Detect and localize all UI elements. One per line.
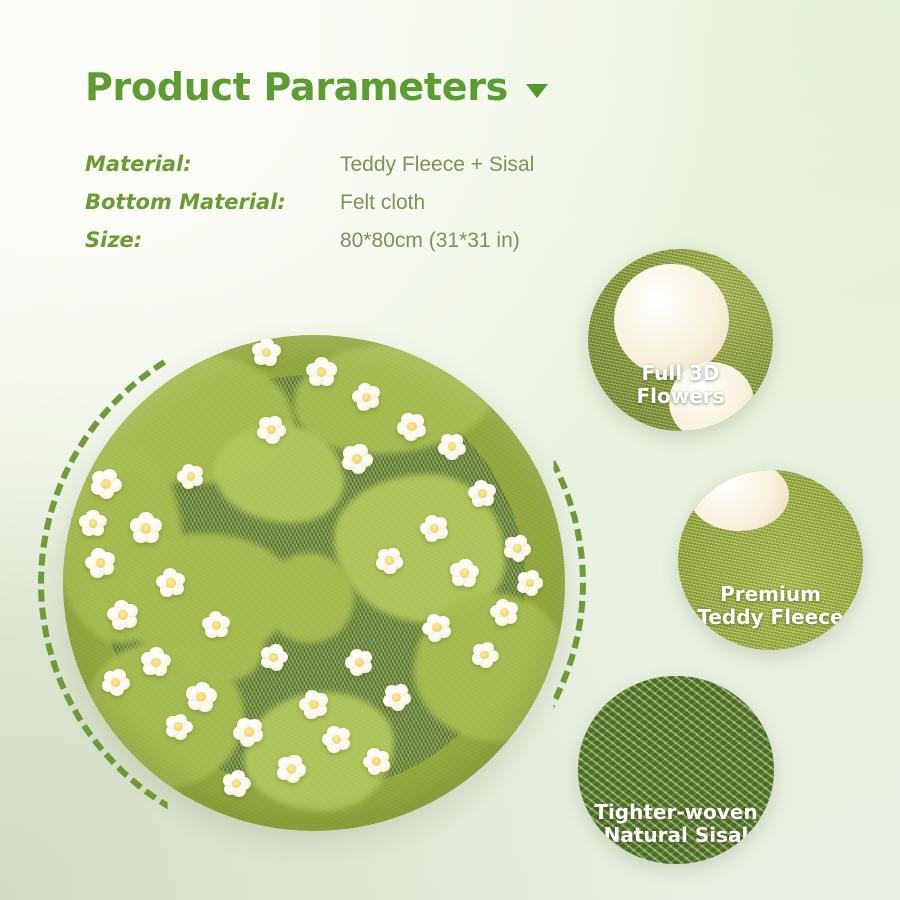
rug-flower-icon [233,716,265,748]
spec-row: Material: Teddy Fleece + Sisal [85,152,534,190]
rug-flower-icon [396,411,427,442]
spec-label-size: Size: [85,228,340,252]
rug-flower-icon [140,646,172,678]
rug-flower-icon [375,546,404,575]
rug-flower-icon [259,643,288,672]
callout-sisal-line1: Tighter-woven [578,801,774,823]
rug-flower-icon [340,443,373,476]
rug-flower-icon [438,432,467,461]
rug-flower-icon [177,462,205,490]
rug-flower-icon [221,769,251,799]
rug-edge-shading [63,335,565,831]
rug-flower-icon [467,479,497,509]
callout-teddy-fleece[interactable]: Premium Teddy Fleece [678,470,863,650]
rug-flower-icon [276,754,307,785]
rug-flower-icon [470,640,499,669]
rug-flower-icon [129,511,163,545]
product-parameters-header[interactable]: Product Parameters [85,68,548,106]
spec-row: Size: 80*80cm (31*31 in) [85,228,534,266]
callout-teddy-fleece-line1: Premium [678,583,863,605]
rug-body [63,335,565,831]
callout-teddy-fleece-caption: Premium Teddy Fleece [678,583,863,628]
spec-value-material: Teddy Fleece + Sisal [340,153,534,177]
rug-flower-icon [352,382,382,412]
flower-photo-large [614,264,729,377]
rug-flower-icon [299,689,330,720]
callout-sisal-line2: Natural Sisal [578,824,774,846]
spec-label-bottom-material: Bottom Material: [85,190,340,214]
spec-label-material: Material: [85,152,340,176]
chevron-down-icon[interactable] [526,84,548,98]
spec-value-size: 80*80cm (31*31 in) [340,229,520,253]
spec-row: Bottom Material: Felt cloth [85,190,534,228]
rug-flower-icon [185,681,218,714]
rug-flower-icon [322,724,352,754]
rug-flower-icon [305,356,338,389]
rug-flower-icon [251,337,282,368]
callout-flowers-caption: Full 3D Flowers [588,362,773,407]
rug-flower-icon [362,747,391,776]
callout-teddy-fleece-line2: Teddy Fleece [678,606,863,628]
callout-flowers-line1: Full 3D [588,362,773,384]
rug-flower-icon [419,513,449,543]
rug-flower-icon [79,509,108,538]
spec-list: Material: Teddy Fleece + Sisal Bottom Ma… [85,152,534,266]
page-title: Product Parameters [85,68,508,106]
rug-flower-icon [421,612,452,643]
rug-flower-icon [256,414,287,445]
spec-value-bottom-material: Felt cloth [340,191,425,215]
rug-flower-icon [490,598,520,628]
rug-flower-icon [85,547,117,579]
rug-flower-icon [107,599,140,632]
rug-flower-icon [382,682,412,712]
product-image-rug[interactable] [63,335,565,831]
rug-flower-icon [201,610,231,640]
rug-flower-icon [155,568,186,599]
callout-flowers-line2: Flowers [588,385,773,407]
callout-sisal-caption: Tighter-woven Natural Sisal [578,801,774,846]
callout-sisal[interactable]: Tighter-woven Natural Sisal [578,676,774,864]
rug-flower-icon [89,467,122,500]
rug-flower-icon [449,558,480,589]
rug-flower-icon [101,668,130,697]
callout-flowers[interactable]: Full 3D Flowers [588,249,773,431]
rug-flower-icon [344,647,374,677]
rug-flower-icon [516,569,544,597]
rug-flower-icon [164,712,193,741]
rug-flower-icon [503,534,532,563]
